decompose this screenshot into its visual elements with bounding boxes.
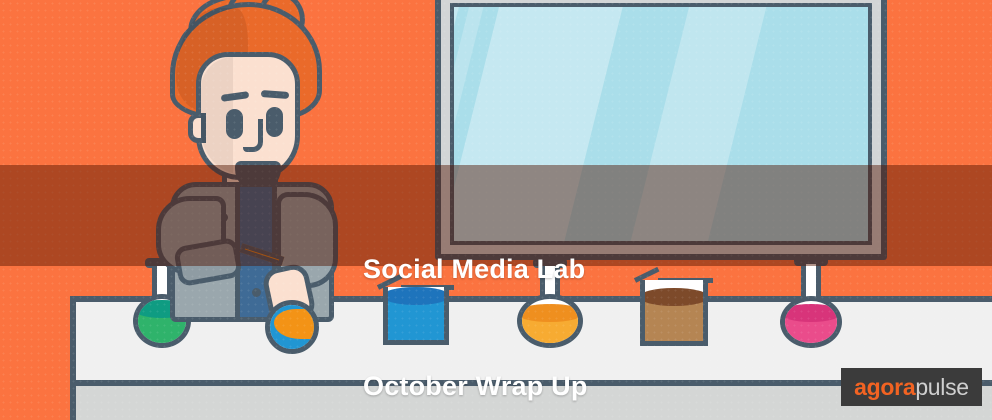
eye-left <box>226 109 243 139</box>
agorapulse-logo[interactable]: agorapulse <box>841 368 982 406</box>
liquid-wave-pink <box>780 304 842 322</box>
round-flask-pink <box>780 256 842 346</box>
head <box>196 52 300 180</box>
round-flask-blue <box>265 300 319 354</box>
liquid-pink <box>780 313 842 343</box>
shirt-button <box>252 288 261 297</box>
liquid-blue <box>266 305 319 349</box>
eye-right <box>266 107 283 137</box>
beaker-brown <box>640 278 708 346</box>
flask-bulb-blue <box>265 300 319 354</box>
logo-text-pulse: pulse <box>915 374 969 401</box>
nose <box>243 119 263 152</box>
banner-title-line-1: Social Media Lab <box>363 250 588 289</box>
logo-text-agora: agora <box>854 374 915 401</box>
social-media-lab-banner: Social Media Lab October Wrap Up agorapu… <box>0 0 992 420</box>
liquid-wave-brown <box>640 288 708 306</box>
beaker-body-brown <box>640 280 708 346</box>
liquid-wave-blue <box>274 309 319 339</box>
flask-bulb-pink <box>780 296 842 348</box>
banner-title: Social Media Lab October Wrap Up <box>363 172 588 420</box>
liquid-brown <box>640 297 708 341</box>
banner-title-line-2: October Wrap Up <box>363 367 588 406</box>
